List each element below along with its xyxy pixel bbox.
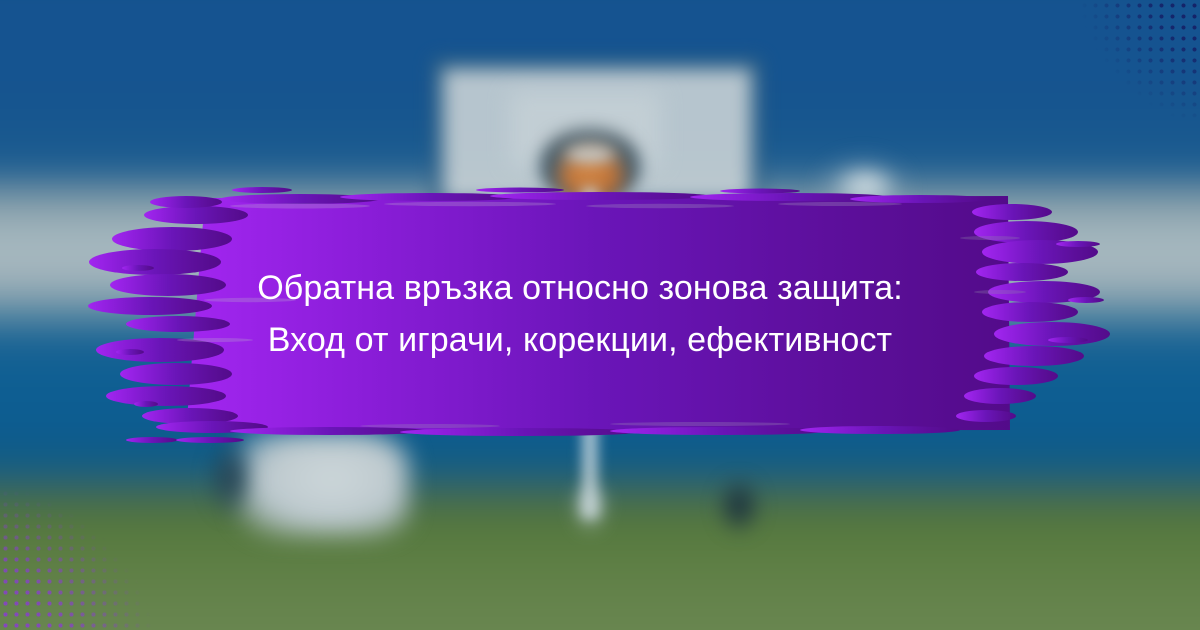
headline-text: Обратна връзка относно зонова защита: Вх… — [150, 262, 1010, 366]
pole-base — [572, 490, 608, 534]
blurred-dark-object-right — [718, 478, 760, 534]
halftone-dots-top-right-icon — [980, 0, 1200, 210]
blurred-foreground-object — [238, 432, 408, 536]
share-banner-card: Обратна връзка относно зонова защита: Вх… — [0, 0, 1200, 630]
net-highlight — [566, 146, 614, 163]
headline-line-1: Обратна връзка относно зонова защита: — [150, 262, 1010, 314]
blurred-light-spot-core — [836, 168, 896, 204]
headline-line-2: Вход от играчи, корекции, ефективност — [150, 314, 1010, 366]
halftone-dots-bottom-left-icon — [0, 400, 250, 630]
